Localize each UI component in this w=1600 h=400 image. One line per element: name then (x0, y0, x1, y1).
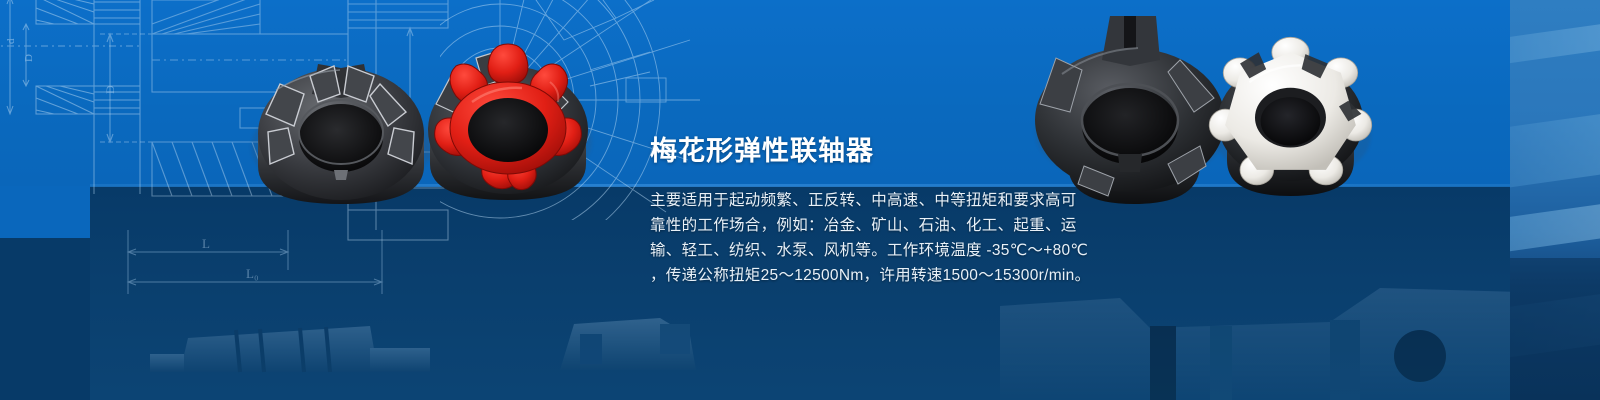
description-line-3: 输、轻工、纺织、水泵、风机等。工作环境温度 -35℃～+80℃ (650, 238, 1070, 263)
banner-text-block: 梅花形弹性联轴器 主要适用于起动频繁、正反转、中高速、中等扭矩和要求高可 靠性的… (650, 138, 1070, 288)
strip-highlight-1 (1510, 20, 1600, 65)
product-coupling-hub-red-spider (410, 22, 605, 212)
right-photo-strip (1510, 0, 1600, 400)
product-coupling-hub-white-spider (1205, 28, 1375, 196)
banner-background-lower-notch (0, 238, 90, 400)
strip-highlight-3 (1510, 200, 1600, 253)
description-line-4: ，传递公称扭矩25～12500Nm，许用转速1500～15300r/min。 (650, 263, 1070, 288)
strip-shadow-overlay (1510, 258, 1600, 400)
description-line-1: 主要适用于起动频繁、正反转、中高速、中等扭矩和要求高可 (650, 188, 1070, 213)
banner-title: 梅花形弹性联轴器 (650, 138, 1070, 165)
description-line-2: 靠性的工作场合，例如：冶金、矿山、石油、化工、起重、运 (650, 213, 1070, 238)
strip-highlight-2 (1510, 111, 1600, 190)
banner-background-upper-notch (0, 186, 90, 238)
banner-description: 主要适用于起动频繁、正反转、中高速、中等扭矩和要求高可 靠性的工作场合，例如：冶… (650, 188, 1070, 288)
product-banner: d D D D (0, 0, 1600, 400)
